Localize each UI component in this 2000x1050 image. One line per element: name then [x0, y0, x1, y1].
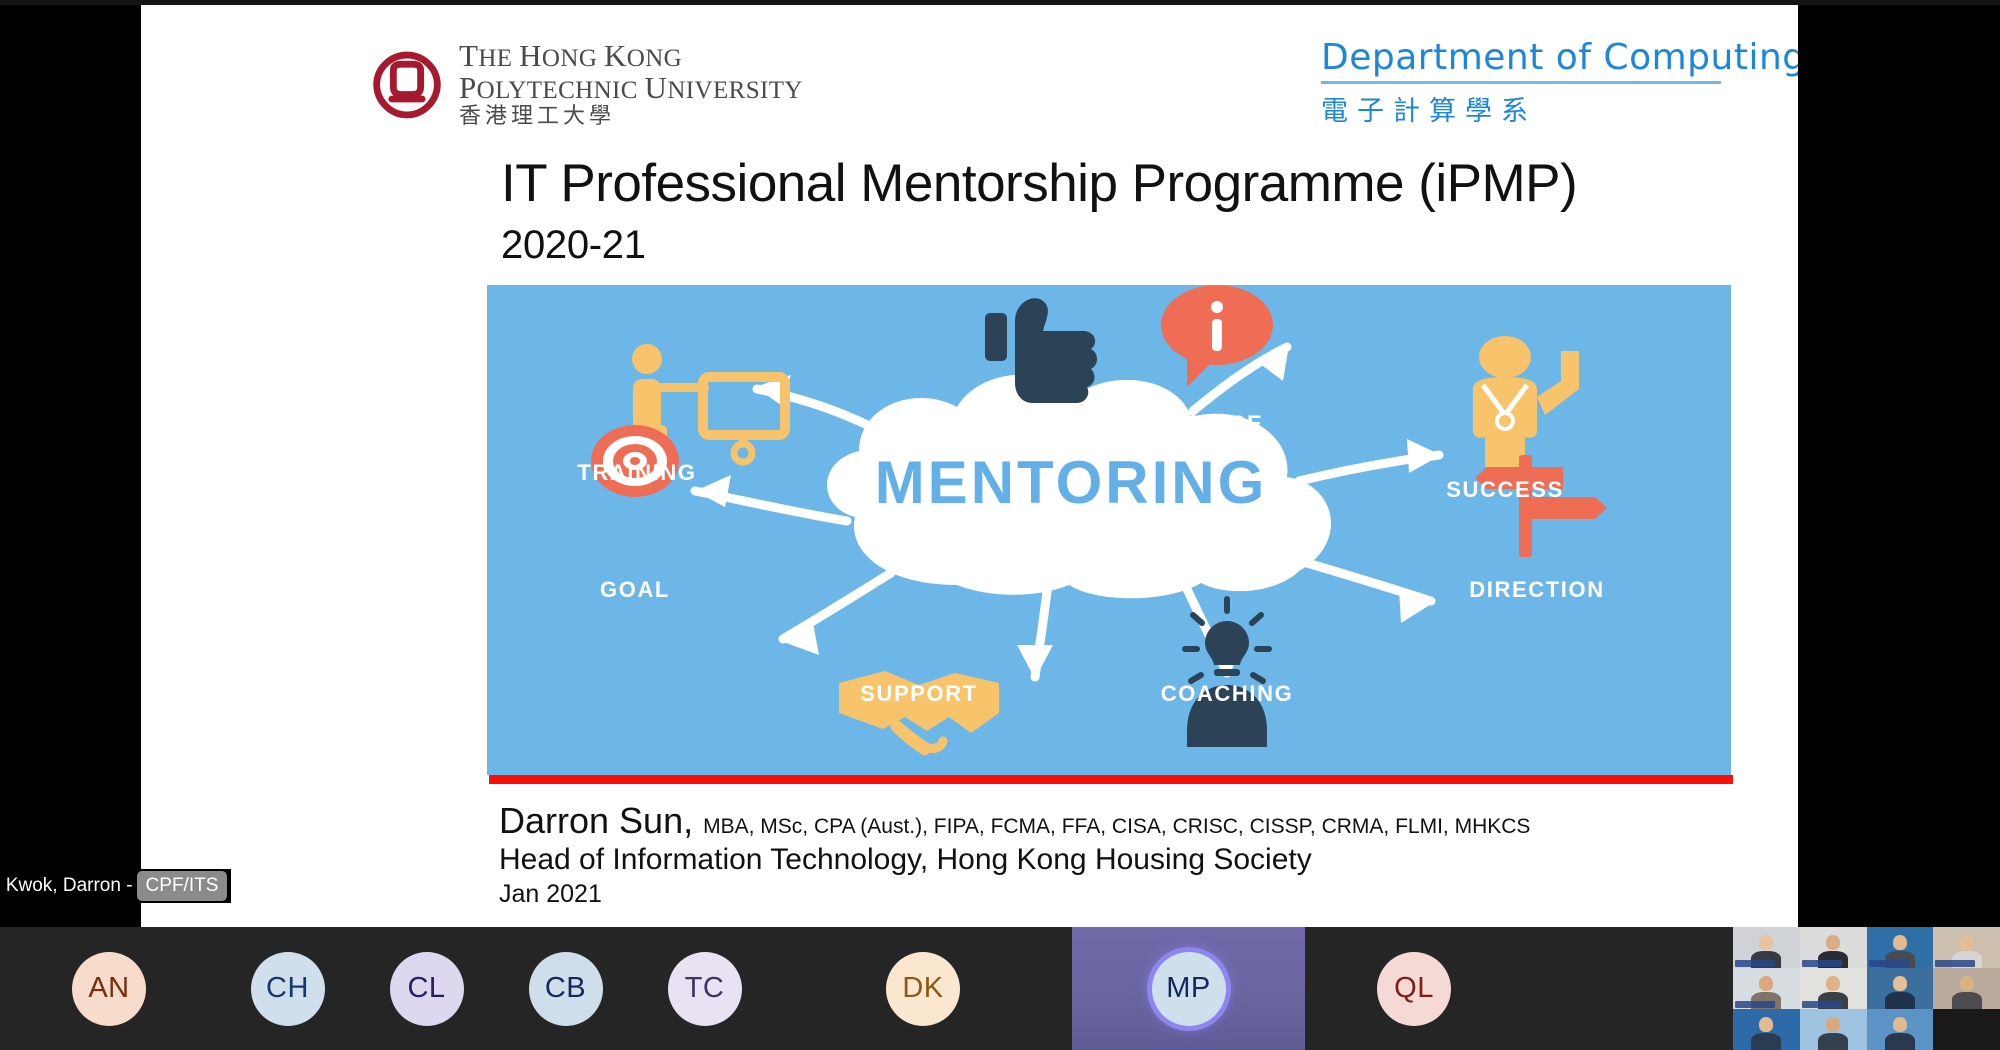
diagram-label-goal: GOAL	[535, 577, 735, 603]
gallery-cell	[1733, 968, 1800, 1009]
gallery-cell-name-caption	[1935, 960, 1975, 967]
gallery-cell	[1800, 968, 1867, 1009]
gallery-cell	[1933, 1009, 2000, 1050]
gallery-cell-person-head	[1893, 935, 1907, 950]
gallery-cell-person-body	[1818, 1033, 1848, 1050]
department-name-english: Department of Computing	[1321, 37, 1798, 78]
gallery-cell-person-body	[1885, 992, 1915, 1009]
avatar: CH	[251, 952, 325, 1026]
gallery-cell	[1867, 1009, 1934, 1050]
participant-tile-cl[interactable]: CL	[357, 927, 496, 1050]
shared-content-stage[interactable]: THE HONG KONG POLYTECHNIC UNIVERSITY 香港理…	[0, 0, 2000, 927]
gallery-view-thumbnail[interactable]	[1733, 927, 2000, 1050]
screen-share-window: THE HONG KONG POLYTECHNIC UNIVERSITY 香港理…	[0, 0, 2000, 1050]
gallery-cell	[1733, 1009, 1800, 1050]
participant-tile-mp[interactable]: MP	[1072, 927, 1305, 1050]
avatar: CL	[390, 952, 464, 1026]
gallery-cell-person-head	[1960, 935, 1974, 950]
avatar: DK	[886, 952, 960, 1026]
participant-tile-cb[interactable]: CB	[496, 927, 635, 1050]
sharer-department-chip: CPF/ITS	[137, 871, 228, 901]
department-logo: Department of Computing 電子計算學系	[1321, 37, 1798, 128]
gallery-cell	[1933, 927, 2000, 968]
polyu-logo: THE HONG KONG POLYTECHNIC UNIVERSITY 香港理…	[369, 40, 803, 129]
participant-tile-dk[interactable]: DK	[774, 927, 1072, 1050]
diagram-label-advice: ADVICE	[1117, 411, 1317, 437]
avatar: TC	[668, 952, 742, 1026]
gallery-cell-name-caption	[1802, 1001, 1842, 1008]
speaker-credentials: MBA, MSc, CPA (Aust.), FIPA, FCMA, FFA, …	[703, 815, 1530, 838]
gallery-cell-name-caption	[1735, 960, 1775, 967]
presentation-slide[interactable]: THE HONG KONG POLYTECHNIC UNIVERSITY 香港理…	[141, 5, 1798, 927]
slide-logo-row: THE HONG KONG POLYTECHNIC UNIVERSITY 香港理…	[141, 5, 1798, 135]
gallery-cell-person-head	[1960, 1017, 1974, 1032]
department-name-chinese: 電子計算學系	[1321, 89, 1798, 128]
speaker-date: Jan 2021	[499, 880, 602, 909]
avatar: QL	[1377, 952, 1451, 1026]
speaker-name: Darron Sun,	[499, 800, 693, 841]
gallery-cell	[1867, 968, 1934, 1009]
sharer-name: n Kwok, Darron -	[0, 875, 133, 897]
polyu-name-line2: POLYTECHNIC UNIVERSITY	[459, 72, 803, 104]
gallery-cell-person-head	[1759, 976, 1773, 991]
gallery-cell-person-head	[1826, 976, 1840, 991]
signpost-icon	[1475, 455, 1607, 557]
polyu-name-line1: THE HONG KONG	[459, 40, 803, 72]
gallery-cell-name-caption	[1735, 1001, 1775, 1008]
participant-tile-ch[interactable]: CH	[218, 927, 357, 1050]
gallery-cell-person-body	[1952, 1033, 1982, 1050]
gallery-cell-person-head	[1893, 1017, 1907, 1032]
medal-winner-icon	[1473, 336, 1579, 467]
avatar: MP	[1152, 952, 1226, 1026]
slide-title: IT Professional Mentorship Programme (iP…	[501, 153, 1577, 214]
gallery-cell	[1800, 1009, 1867, 1050]
lightbulb-person-icon	[1185, 599, 1269, 747]
avatar: CB	[529, 952, 603, 1026]
participant-tile-tc[interactable]: TC	[635, 927, 774, 1050]
speaker-role: Head of Information Technology, Hong Kon…	[499, 843, 1312, 877]
diagram-label-support: SUPPORT	[819, 681, 1019, 707]
gallery-cell-person-head	[1759, 1017, 1773, 1032]
diagram-label-direction: DIRECTION	[1427, 577, 1647, 603]
participant-tile-an[interactable]: AN	[0, 927, 218, 1050]
participant-filmstrip[interactable]: ANCHCLCBTCDKMPQL	[0, 927, 2000, 1050]
gallery-cell-person-head	[1826, 1017, 1840, 1032]
diagram-label-training: TRAINING	[487, 460, 787, 486]
gallery-cell-person-body	[1952, 992, 1982, 1009]
diagram-label-coaching: COACHING	[1127, 681, 1327, 707]
gallery-cell-name-caption	[1869, 960, 1909, 967]
speaker-name-line: Darron Sun, MBA, MSc, CPA (Aust.), FIPA,…	[499, 800, 1530, 842]
diagram-label-success: SUCCESS	[1405, 477, 1605, 503]
gallery-cell	[1800, 927, 1867, 968]
polyu-knot-mark-icon	[369, 49, 445, 121]
gallery-cell-name-caption	[1802, 960, 1842, 967]
avatar: AN	[72, 952, 146, 1026]
gallery-cell-person-body	[1885, 1033, 1915, 1050]
gallery-cell-person-head	[1960, 976, 1974, 991]
polyu-name-chinese: 香港理工大學	[459, 106, 803, 129]
slide-divider-rule	[489, 775, 1733, 784]
info-speech-bubble-icon	[1161, 285, 1273, 387]
mentoring-diagram: MENTORING	[487, 285, 1731, 775]
sharer-name-tag: n Kwok, Darron - CPF/ITS	[0, 869, 231, 903]
gallery-cell	[1733, 927, 1800, 968]
gallery-cell	[1867, 927, 1934, 968]
gallery-cell-person-head	[1759, 935, 1773, 950]
slide-subtitle: 2020-21	[501, 223, 646, 268]
mentoring-center-label: MENTORING	[875, 449, 1268, 516]
gallery-cell-person-body	[1751, 1033, 1781, 1050]
department-rule	[1321, 81, 1721, 84]
gallery-cell-person-head	[1893, 976, 1907, 991]
gallery-cell	[1933, 968, 2000, 1009]
participant-tile-ql[interactable]: QL	[1305, 927, 1523, 1050]
gallery-cell-person-head	[1826, 935, 1840, 950]
